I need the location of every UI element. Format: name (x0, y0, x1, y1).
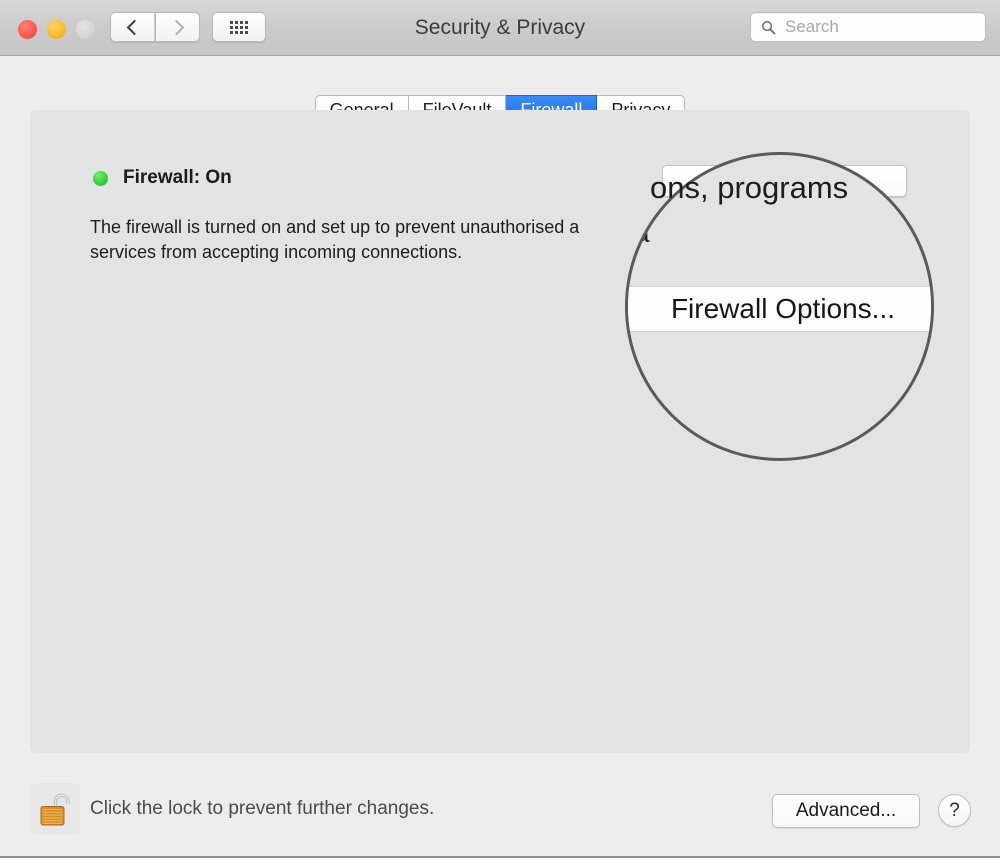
lock-hint-text: Click the lock to prevent further change… (90, 798, 434, 820)
firewall-status: Firewall: On (93, 167, 232, 189)
search-icon (761, 20, 776, 35)
window-toolbar: Security & Privacy (0, 0, 1000, 56)
preferences-window: Security & Privacy General FileVault Fir… (0, 0, 1000, 858)
advanced-button[interactable]: Advanced... (772, 794, 920, 828)
lock-button[interactable] (30, 783, 80, 835)
search-input[interactable] (783, 16, 977, 38)
status-indicator-dot (93, 171, 108, 186)
magnified-turn-off-button-fragment: ons, programs (650, 170, 848, 206)
firewall-description: The firewall is turned on and set up to … (90, 215, 670, 265)
description-line-2: services from accepting incoming connect… (90, 242, 462, 262)
magnified-description-fragment: d a (625, 218, 650, 249)
status-badge: Firewall: On (123, 167, 232, 189)
description-line-1: The firewall is turned on and set up to … (90, 217, 579, 237)
search-field[interactable] (750, 12, 986, 42)
magnified-firewall-options-button[interactable]: Firewall Options... (625, 286, 934, 332)
help-button[interactable]: ? (938, 794, 971, 827)
unlocked-padlock-icon (38, 790, 72, 828)
